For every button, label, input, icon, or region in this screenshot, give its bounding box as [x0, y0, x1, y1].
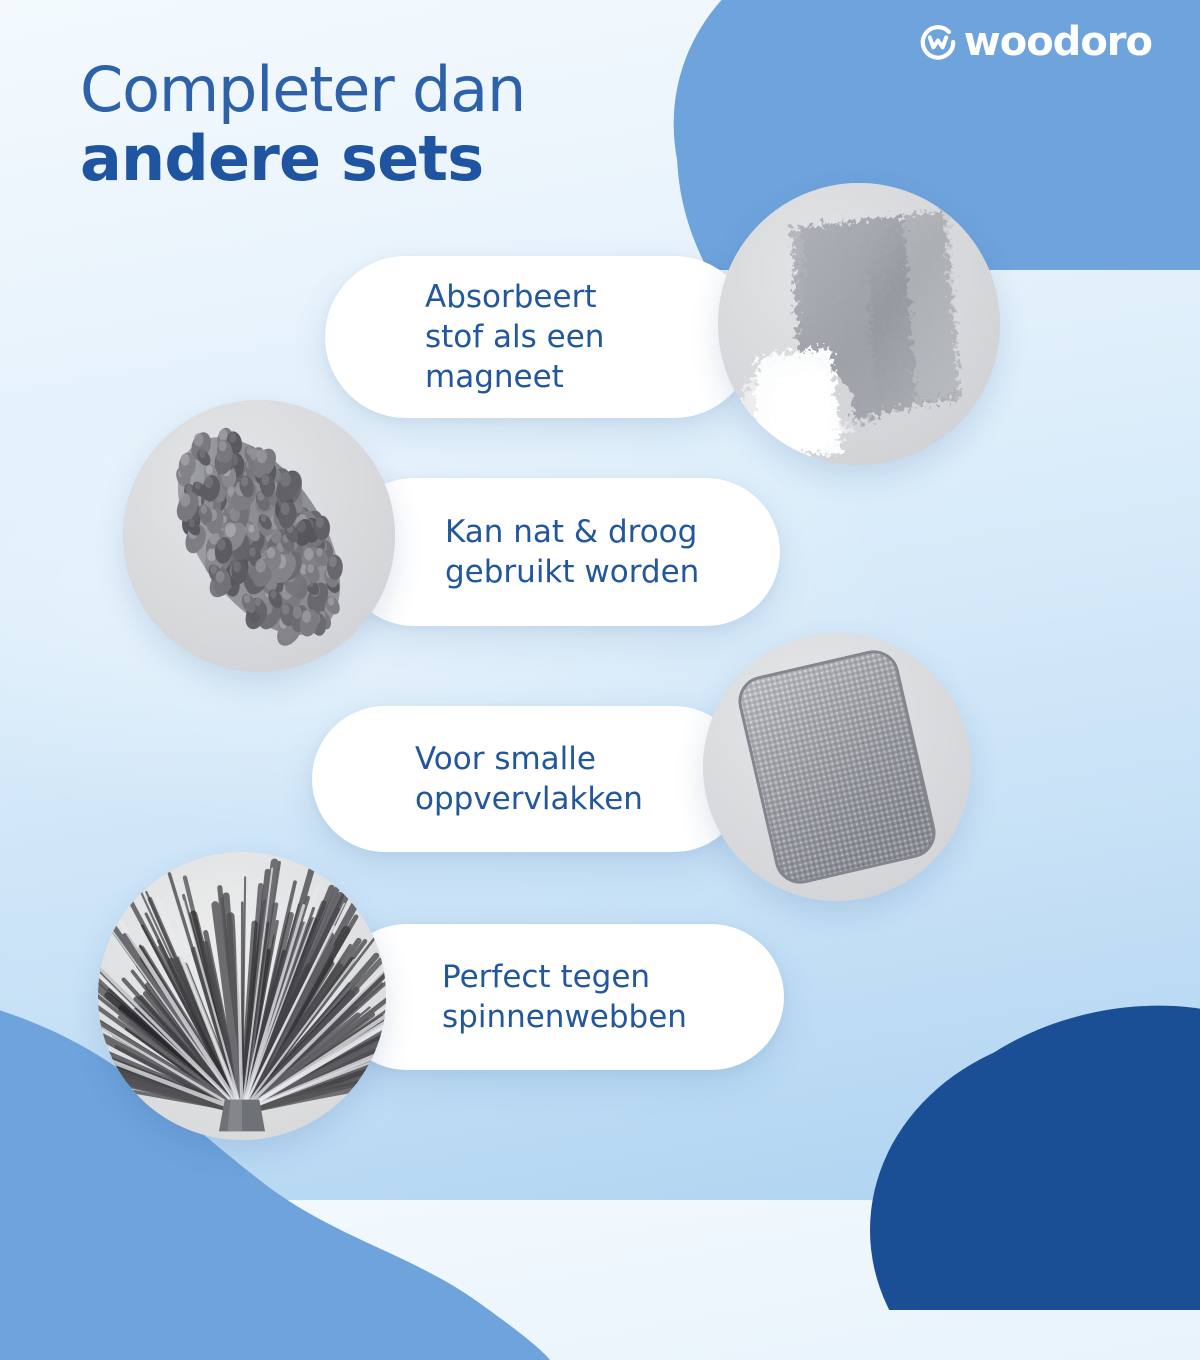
headline-line-1: Completer dan	[80, 58, 525, 121]
decorative-blob-bottom-right	[850, 980, 1200, 1310]
woodoro-circle-w-icon	[919, 23, 957, 61]
page-title: Completer dan andere sets	[80, 58, 525, 190]
chenille-duster-photo	[123, 400, 395, 672]
microfiber-duster-pad-photo	[718, 183, 1000, 465]
feature-card-3: Voor smalle oppvervlakken	[312, 706, 747, 852]
feature-text-2: Kan nat & droog gebruikt worden	[445, 512, 699, 593]
microfiber-cloth-pad-photo	[703, 633, 971, 901]
brand-logo: woodoro	[919, 22, 1152, 62]
headline-line-2: andere sets	[80, 127, 525, 190]
feature-text-3: Voor smalle oppvervlakken	[415, 739, 643, 820]
feature-card-2: Kan nat & droog gebruikt worden	[340, 478, 780, 626]
brand-name: woodoro	[964, 22, 1152, 62]
feature-card-4: Perfect tegen spinnenwebben	[334, 924, 784, 1070]
infographic-canvas: woodoro Completer dan andere sets Absorb…	[0, 0, 1200, 1200]
feature-text-4: Perfect tegen spinnenwebben	[442, 957, 687, 1038]
feature-card-1: Absorbeert stof als een magneet	[325, 256, 755, 418]
cobweb-brush-photo	[98, 852, 386, 1140]
feature-text-1: Absorbeert stof als een magneet	[425, 277, 604, 398]
